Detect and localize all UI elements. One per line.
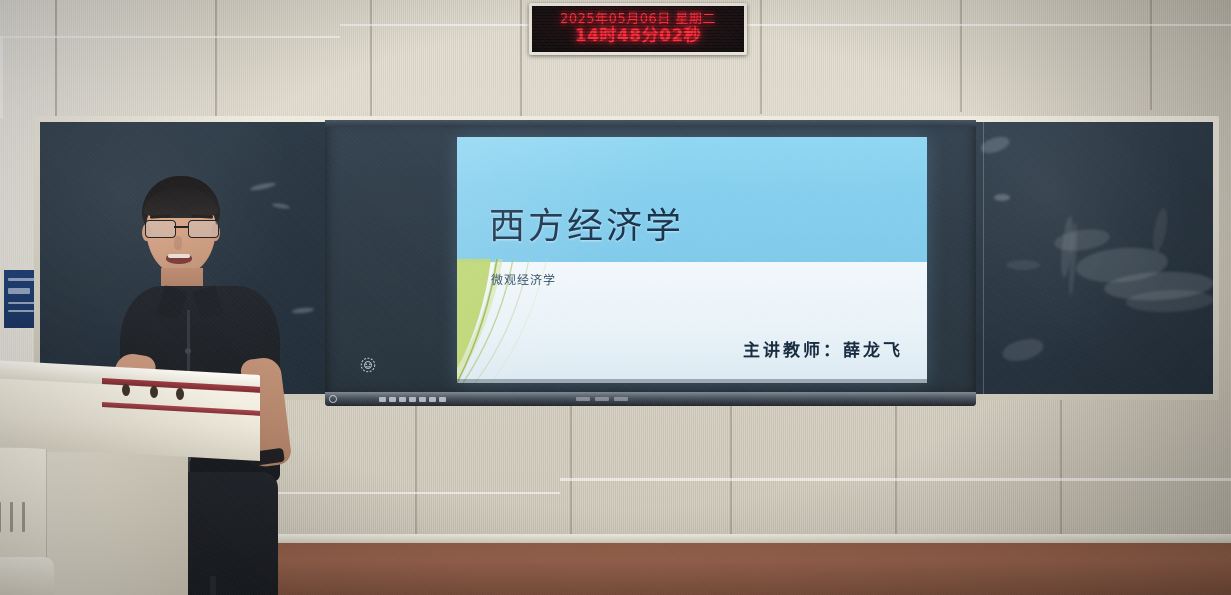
wall-seam (520, 0, 522, 116)
lectern-hole (176, 388, 184, 400)
lectern-vents (0, 502, 25, 532)
panel-button[interactable] (379, 397, 386, 402)
lectern-vent (22, 502, 25, 532)
lectern (0, 352, 267, 595)
lectern-hole (122, 384, 130, 396)
wall-seam (730, 400, 732, 554)
panel-button[interactable] (389, 397, 396, 402)
led-clock-time: 14时48分02秒 (575, 27, 701, 46)
panel-port-group (576, 397, 628, 401)
wall-seam (960, 0, 962, 112)
glasses (145, 220, 217, 237)
teeth (168, 254, 190, 258)
wall-seam (570, 400, 572, 550)
chalk-smudges (976, 122, 1213, 394)
slide-title: 西方经济学 (489, 197, 684, 249)
right-chalkboard (976, 122, 1213, 394)
wall-seam (760, 0, 762, 114)
lectern-lower-shelf (0, 557, 54, 595)
led-clock-date: 2025年05月06日 星期二 (560, 12, 716, 27)
panel-button[interactable] (409, 397, 416, 402)
lectern-vent (0, 502, 1, 532)
slide-footer-edge (457, 379, 927, 383)
wall-seam (340, 24, 1231, 26)
slide-presenter-credit: 主讲教师：薛龙飞 (743, 336, 903, 361)
slide-subtitle: 微观经济学 (491, 271, 556, 288)
wall-seam (370, 0, 372, 116)
wall-seam (1060, 400, 1062, 540)
wall-seam (895, 400, 897, 552)
wall-seam (415, 400, 417, 546)
panel-port (595, 397, 609, 401)
lectern-vent (10, 502, 13, 532)
panel-button[interactable] (419, 397, 426, 402)
led-clock-display: 2025年05月06日 星期二 14时48分02秒 (529, 3, 747, 55)
classroom-photo: 2025年05月06日 星期二 14时48分02秒 (0, 0, 1231, 595)
panel-port (614, 397, 628, 401)
nose (174, 236, 182, 250)
panel-port (576, 397, 590, 401)
power-button[interactable] (329, 395, 337, 403)
lens-left (145, 220, 176, 238)
wall-seam (55, 0, 57, 118)
panel-button-group[interactable] (379, 397, 446, 402)
wall-seam (1150, 0, 1152, 110)
wall-seam (0, 36, 3, 118)
wall-seam (215, 0, 217, 118)
panel-button[interactable] (429, 397, 436, 402)
glasses-bridge (174, 226, 188, 228)
lens-right (188, 220, 219, 238)
presentation-slide: 西方经济学 微观经济学 主讲教师：薛龙飞 (457, 137, 927, 383)
panel-button[interactable] (399, 397, 406, 402)
panel-button[interactable] (439, 397, 446, 402)
interactive-flat-panel[interactable]: 西方经济学 微观经济学 主讲教师：薛龙飞 (325, 120, 976, 396)
panel-bezel-top (325, 120, 976, 127)
wall-seam (0, 36, 340, 38)
lectern-hole (150, 386, 158, 398)
panel-control-bar[interactable] (325, 392, 976, 406)
wall-seam (560, 478, 1231, 481)
vendor-emblem-icon (359, 356, 377, 374)
